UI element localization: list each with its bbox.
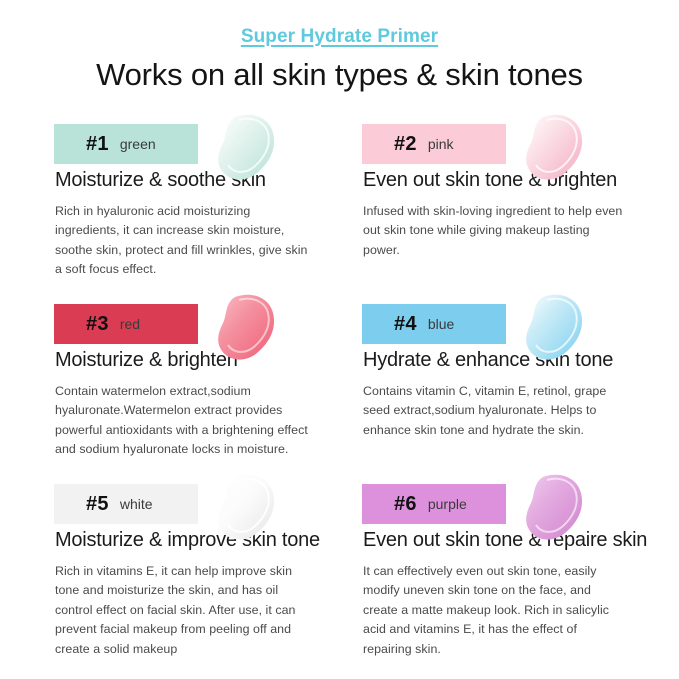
shade-card-2: #2 pink	[351, 111, 636, 291]
shade-body-4: Contains vitamin C, vitamin E, retinol, …	[363, 382, 625, 441]
brand-link[interactable]: Super Hydrate Primer	[241, 26, 438, 48]
shade-number-5: #5	[86, 494, 109, 514]
shade-grid: #1 green	[0, 111, 679, 651]
shade-bar-row-6: #6 purple	[351, 471, 636, 527]
shade-number-6: #6	[394, 494, 417, 514]
shade-card-4: #4 blue	[351, 291, 636, 471]
product-info-page: Super Hydrate Primer Works on all skin t…	[0, 0, 679, 679]
shade-body-1: Rich in hyaluronic acid moisturizing ing…	[55, 202, 317, 280]
shade-bar-4[interactable]: #4 blue	[362, 304, 506, 344]
shade-card-1: #1 green	[43, 111, 328, 291]
shade-card-6: #6 purple	[351, 471, 636, 651]
shade-number-2: #2	[394, 134, 417, 154]
shade-body-5: Rich in vitamins E, it can help improve …	[55, 562, 317, 660]
shade-number-3: #3	[86, 314, 109, 334]
shade-bar-row-3: #3 red	[43, 291, 328, 347]
shade-name-4: blue	[428, 317, 454, 331]
shade-bar-2[interactable]: #2 pink	[362, 124, 506, 164]
shade-bar-row-2: #2 pink	[351, 111, 636, 167]
shade-card-5: #5 white	[43, 471, 328, 651]
shade-name-1: green	[120, 137, 156, 151]
shade-card-3: #3 red	[43, 291, 328, 471]
shade-bar-5[interactable]: #5 white	[54, 484, 198, 524]
page-title: Works on all skin types & skin tones	[0, 57, 679, 93]
shade-name-3: red	[120, 317, 140, 331]
shade-number-1: #1	[86, 134, 109, 154]
shade-heading-3: Moisturize & brighten	[55, 349, 328, 371]
shade-bar-row-5: #5 white	[43, 471, 328, 527]
shade-bar-3[interactable]: #3 red	[54, 304, 198, 344]
shade-heading-4: Hydrate & enhance skin tone	[363, 349, 636, 371]
shade-name-2: pink	[428, 137, 454, 151]
shade-heading-1: Moisturize & soothe skin	[55, 169, 328, 191]
shade-body-6: It can effectively even out skin tone, e…	[363, 562, 625, 660]
shade-bar-1[interactable]: #1 green	[54, 124, 198, 164]
shade-heading-5: Moisturize & improve skin tone	[55, 529, 328, 551]
shade-body-2: Infused with skin-loving ingredient to h…	[363, 202, 625, 261]
page-header: Super Hydrate Primer Works on all skin t…	[0, 0, 679, 93]
shade-number-4: #4	[394, 314, 417, 334]
shade-heading-2: Even out skin tone & brighten	[363, 169, 636, 191]
shade-name-5: white	[120, 497, 153, 511]
shade-bar-row-4: #4 blue	[351, 291, 636, 347]
shade-body-3: Contain watermelon extract,sodium hyalur…	[55, 382, 317, 460]
shade-bar-6[interactable]: #6 purple	[362, 484, 506, 524]
shade-bar-row-1: #1 green	[43, 111, 328, 167]
shade-heading-6: Even out skin tone & repaire skin	[363, 529, 636, 551]
shade-name-6: purple	[428, 497, 467, 511]
